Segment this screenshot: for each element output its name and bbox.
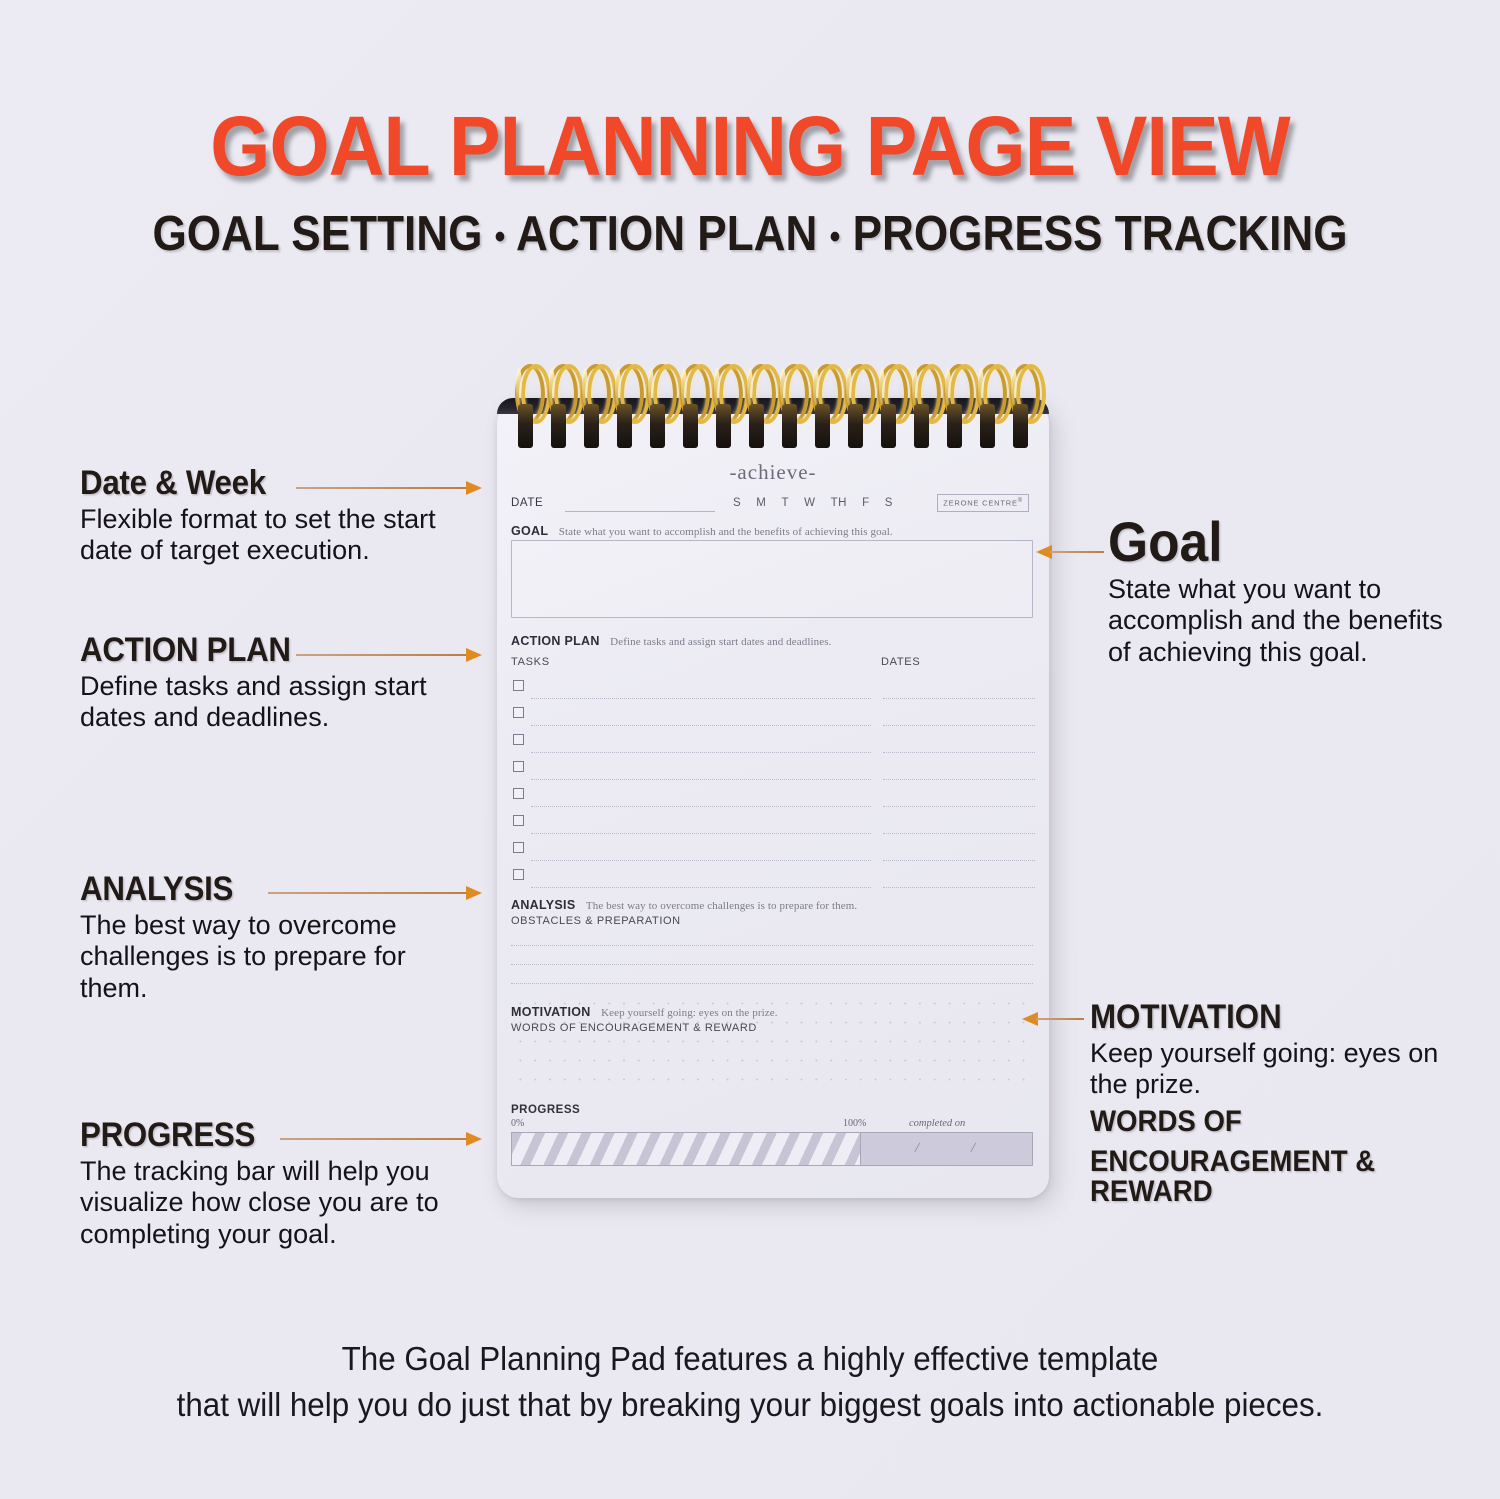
annotation-motivation-emphasis-2: ENCOURAGEMENT & REWARD xyxy=(1090,1147,1430,1207)
goal-planning-notepad: -achieve- DATE SMTWTHFS ZERONE CENTRE® G… xyxy=(497,398,1049,1198)
task-date-line[interactable] xyxy=(883,698,1035,699)
annotation-goal-heading: Goal xyxy=(1108,514,1430,570)
subtitle-part-3: PROGRESS TRACKING xyxy=(853,207,1348,261)
subtitle-bullet-1: • xyxy=(495,218,506,256)
registered-mark-icon: ® xyxy=(1018,498,1023,504)
coil-highlight xyxy=(681,368,687,406)
annotation-date-week-body: Flexible format to set the start date of… xyxy=(80,504,480,567)
action-plan-label: ACTION PLAN xyxy=(511,634,600,648)
coil-highlight xyxy=(648,368,654,406)
coil-highlight xyxy=(978,368,984,406)
page-title: GOAL PLANNING PAGE VIEW xyxy=(60,0,1440,188)
arrow-head-icon xyxy=(466,1132,482,1146)
annotation-analysis-body: The best way to overcome challenges is t… xyxy=(80,910,480,1004)
task-date-line[interactable] xyxy=(883,833,1035,834)
coil-highlight xyxy=(714,368,720,406)
task-input-line[interactable] xyxy=(531,887,871,888)
arrow-to-motivation xyxy=(1022,1012,1084,1026)
task-input-line[interactable] xyxy=(531,779,871,780)
task-row[interactable] xyxy=(511,867,1035,894)
date-week-row: DATE SMTWTHFS ZERONE CENTRE® xyxy=(511,494,1035,516)
arrow-to-goal xyxy=(1036,545,1104,559)
arrow-head-icon xyxy=(466,886,482,900)
brand-badge: ZERONE CENTRE® xyxy=(937,494,1029,512)
task-checkbox[interactable] xyxy=(513,707,524,718)
task-row[interactable] xyxy=(511,678,1035,705)
weekday-thu[interactable]: TH xyxy=(831,497,848,509)
arrow-shaft xyxy=(296,654,468,656)
task-date-line[interactable] xyxy=(883,860,1035,861)
goal-section-header: GOAL State what you want to accomplish a… xyxy=(511,522,1035,540)
weekday-fri[interactable]: F xyxy=(862,497,870,509)
arrow-to-analysis xyxy=(268,886,482,900)
task-row[interactable] xyxy=(511,705,1035,732)
weekday-selector[interactable]: SMTWTHFS xyxy=(733,497,908,509)
annotation-goal-body: State what you want to accomplish and th… xyxy=(1108,574,1458,668)
weekday-tue[interactable]: T xyxy=(781,497,789,509)
analysis-label: ANALYSIS xyxy=(511,898,575,912)
annotation-motivation-body: Keep yourself going: eyes on the prize. xyxy=(1090,1038,1460,1101)
task-input-line[interactable] xyxy=(531,806,871,807)
annotation-action-plan-body: Define tasks and assign start dates and … xyxy=(80,671,480,734)
task-row[interactable] xyxy=(511,759,1035,786)
annotation-motivation-heading: MOTIVATION xyxy=(1090,1000,1430,1034)
progress-section: PROGRESS 0% 100% completed on / / xyxy=(511,1104,1033,1166)
coil-highlight xyxy=(747,368,753,406)
task-row[interactable] xyxy=(511,840,1035,867)
goal-description: State what you want to accomplish and th… xyxy=(559,526,893,538)
task-input-line[interactable] xyxy=(531,833,871,834)
coil-highlight xyxy=(813,368,819,406)
date-input-line[interactable] xyxy=(565,511,715,512)
completed-on-field[interactable]: / / xyxy=(860,1133,1032,1165)
arrow-shaft xyxy=(1036,1018,1084,1020)
task-row[interactable] xyxy=(511,813,1035,840)
task-checkbox[interactable] xyxy=(513,815,524,826)
coil-highlight xyxy=(615,368,621,406)
weekday-sun[interactable]: S xyxy=(733,497,741,509)
arrow-shaft xyxy=(280,1138,468,1140)
progress-max-label: 100% xyxy=(843,1118,866,1129)
coil-highlight xyxy=(516,368,522,406)
tasks-column-header: TASKS xyxy=(511,656,550,668)
annotation-goal: Goal State what you want to accomplish a… xyxy=(1108,514,1458,668)
arrow-head-icon xyxy=(466,481,482,495)
arrow-shaft xyxy=(268,892,468,894)
brand-wordmark: -achieve- xyxy=(497,460,1049,485)
arrow-to-action-plan xyxy=(296,648,482,662)
task-input-line[interactable] xyxy=(531,698,871,699)
goal-label: GOAL xyxy=(511,524,548,538)
analysis-write-line[interactable] xyxy=(511,983,1033,984)
weekday-mon[interactable]: M xyxy=(756,497,766,509)
coil-highlight xyxy=(549,368,555,406)
arrow-shaft xyxy=(1050,551,1104,553)
action-plan-description: Define tasks and assign start dates and … xyxy=(610,636,831,648)
annotation-motivation: MOTIVATION Keep yourself going: eyes on … xyxy=(1090,1000,1460,1207)
task-checkbox[interactable] xyxy=(513,734,524,745)
subtitle-part-2: ACTION PLAN xyxy=(516,207,817,261)
analysis-write-line[interactable] xyxy=(511,964,1033,965)
analysis-write-line[interactable] xyxy=(511,945,1033,946)
progress-label: PROGRESS xyxy=(511,1104,1033,1116)
arrow-shaft xyxy=(296,487,468,489)
page-subtitle: GOAL SETTING • ACTION PLAN • PROGRESS TR… xyxy=(75,188,1425,259)
goal-input-box[interactable] xyxy=(511,540,1033,618)
arrow-head-icon xyxy=(466,648,482,662)
brand-badge-text: ZERONE CENTRE xyxy=(943,499,1018,508)
annotation-progress-body: The tracking bar will help you visualize… xyxy=(80,1156,480,1250)
completed-date-slash-1: / xyxy=(915,1140,919,1157)
task-checkbox[interactable] xyxy=(513,761,524,772)
completed-date-slash-2: / xyxy=(971,1140,975,1157)
task-date-line[interactable] xyxy=(883,725,1035,726)
progress-min-label: 0% xyxy=(511,1118,524,1129)
task-date-line[interactable] xyxy=(883,779,1035,780)
coil-highlight xyxy=(912,368,918,406)
analysis-description: The best way to overcome challenges is t… xyxy=(586,900,857,912)
task-date-line[interactable] xyxy=(883,752,1035,753)
date-label: DATE xyxy=(511,497,543,509)
task-checkbox[interactable] xyxy=(513,869,524,880)
task-date-line[interactable] xyxy=(883,887,1035,888)
task-row[interactable] xyxy=(511,786,1035,813)
coil-highlight xyxy=(945,368,951,406)
header: GOAL PLANNING PAGE VIEW GOAL SETTING • A… xyxy=(0,0,1500,259)
footer-caption-line-2: that will help you do just that by break… xyxy=(38,1382,1463,1428)
analysis-subhead: OBSTACLES & PREPARATION xyxy=(511,915,681,927)
task-checkbox[interactable] xyxy=(513,680,524,691)
subtitle-bullet-2: • xyxy=(830,218,841,256)
analysis-section-header: ANALYSIS The best way to overcome challe… xyxy=(511,896,1035,914)
task-input-line[interactable] xyxy=(531,752,871,753)
weekday-sat[interactable]: S xyxy=(885,497,893,509)
arrow-to-progress xyxy=(280,1132,482,1146)
subtitle-part-1: GOAL SETTING xyxy=(152,207,482,261)
task-checkbox[interactable] xyxy=(513,788,524,799)
dates-column-header: DATES xyxy=(881,656,920,668)
coil-highlight xyxy=(846,368,852,406)
footer-caption: The Goal Planning Pad features a highly … xyxy=(38,1336,1463,1427)
coil-highlight xyxy=(582,368,588,406)
coil-highlight xyxy=(1011,368,1017,406)
coil-highlight xyxy=(780,368,786,406)
footer-caption-line-1: The Goal Planning Pad features a highly … xyxy=(38,1336,1463,1382)
action-plan-section-header: ACTION PLAN Define tasks and assign star… xyxy=(511,632,1035,650)
task-input-line[interactable] xyxy=(531,860,871,861)
annotation-motivation-emphasis-1: WORDS OF xyxy=(1090,1107,1430,1137)
weekday-wed[interactable]: W xyxy=(804,497,815,509)
progress-bar[interactable]: / / xyxy=(511,1132,1033,1166)
completed-on-label: completed on xyxy=(909,1118,965,1129)
arrow-to-date-week xyxy=(296,481,482,495)
task-checkbox[interactable] xyxy=(513,842,524,853)
motivation-dot-grid[interactable] xyxy=(511,990,1033,1094)
notepad-page: -achieve- DATE SMTWTHFS ZERONE CENTRE® G… xyxy=(497,414,1049,1198)
progress-bar-track[interactable] xyxy=(512,1133,860,1165)
coil-highlight xyxy=(879,368,885,406)
task-date-line[interactable] xyxy=(883,806,1035,807)
task-input-line[interactable] xyxy=(531,725,871,726)
progress-scale-labels: 0% 100% completed on xyxy=(511,1118,1033,1132)
task-row[interactable] xyxy=(511,732,1035,759)
